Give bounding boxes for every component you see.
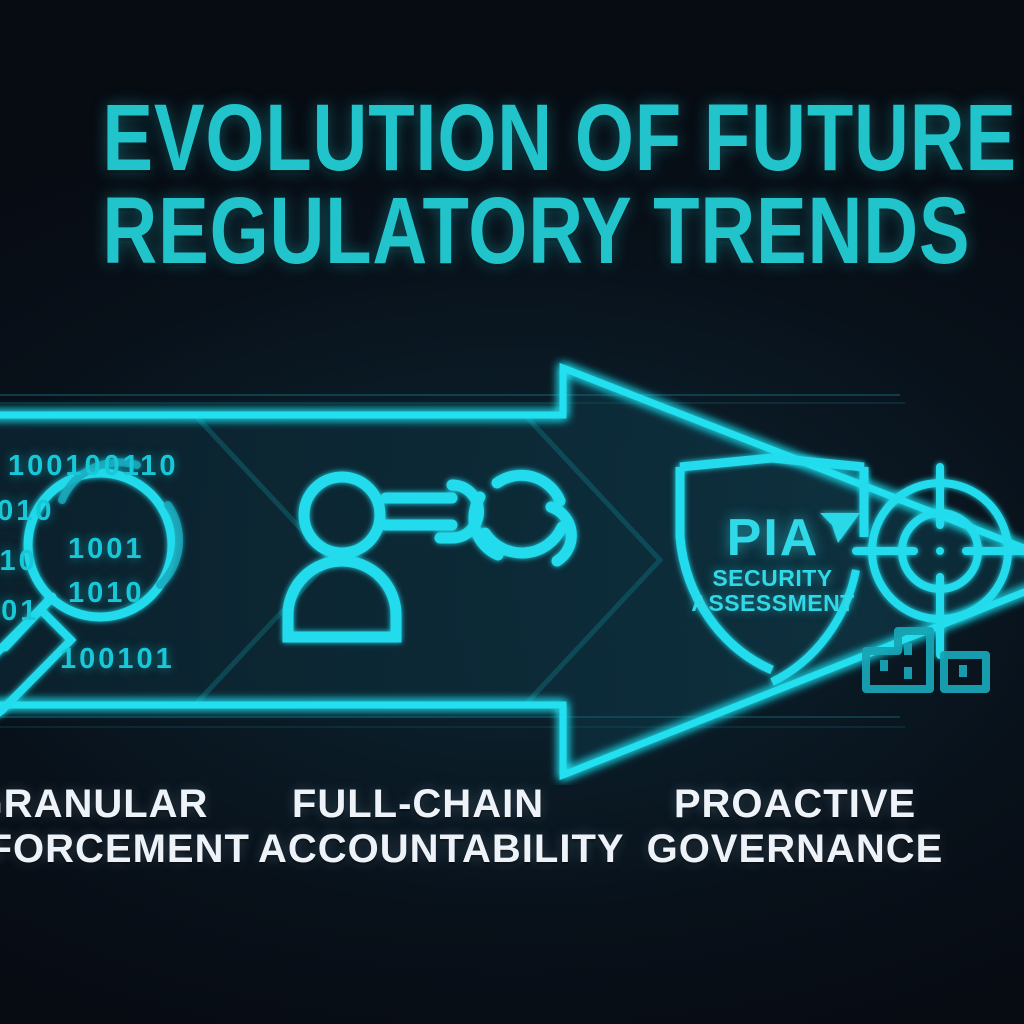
stage-caption-granular-enforcement: GRANULAR ENFORCEMENT	[0, 782, 300, 872]
binary-row-1: 0010	[0, 495, 55, 528]
shield-subline-2: ASSESSMENT	[683, 590, 863, 617]
binary-row-2: 110	[0, 545, 38, 578]
binary-row-5: 1010	[68, 577, 145, 610]
process-arrow-band: 100100110 0010 110 001 1001 1010 100101	[0, 355, 1024, 785]
shield-subline-1: SECURITY	[690, 565, 855, 592]
page-title: EVOLUTION OF FUTURE REGULATORY TRENDS	[102, 92, 921, 278]
shield-headline: PIA	[708, 508, 838, 568]
title-line-1: EVOLUTION OF FUTURE	[102, 85, 1017, 191]
binary-row-3: 001	[0, 595, 39, 628]
stage-caption-full-chain-accountability: FULL-CHAIN ACCOUNTABILITY	[258, 782, 578, 872]
arrow-svg	[0, 355, 1024, 785]
crosshair-center-dot	[936, 547, 944, 555]
caption-3-line-1: PROACTIVE	[674, 782, 916, 826]
stage-caption-proactive-governance: PROACTIVE GOVERNANCE	[630, 782, 960, 872]
arrow-body-fill	[0, 368, 1024, 775]
binary-row-4: 1001	[68, 533, 145, 566]
caption-1-line-1: GRANULAR	[0, 782, 208, 826]
binary-row-6: 100101	[60, 643, 175, 676]
caption-2-line-2: ACCOUNTABILITY	[258, 827, 578, 872]
infographic-canvas: EVOLUTION OF FUTURE REGULATORY TRENDS	[0, 0, 1024, 1024]
caption-2-line-1: FULL-CHAIN	[292, 782, 544, 826]
caption-1-line-2: ENFORCEMENT	[0, 827, 300, 872]
title-line-2: REGULATORY TRENDS	[102, 185, 921, 278]
binary-row-0: 100100110	[8, 450, 179, 483]
caption-3-line-2: GOVERNANCE	[630, 827, 960, 872]
